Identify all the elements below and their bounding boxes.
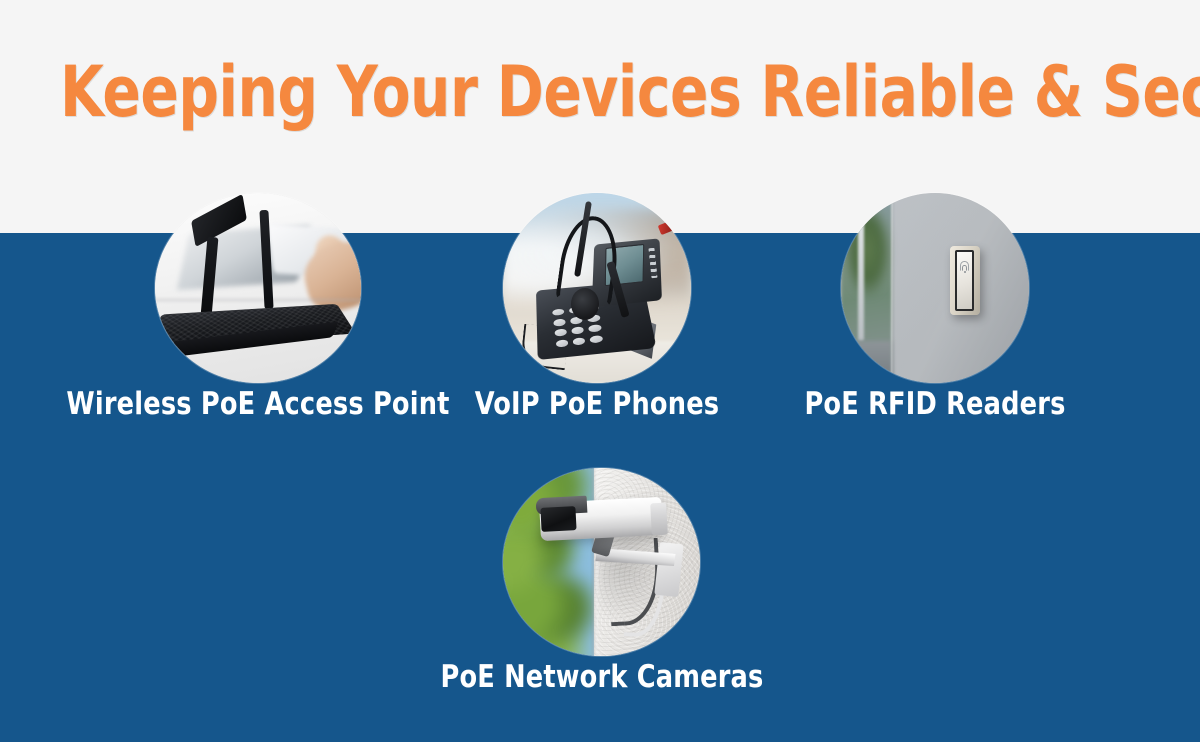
feature-label-poe-network-cameras: PoE Network Cameras: [440, 659, 763, 695]
rfid-reader-illustration: [841, 193, 1029, 383]
security-camera-icon: [503, 468, 700, 656]
desk-phone-icon: [503, 193, 691, 383]
voip-phone-illustration: [503, 193, 691, 383]
security-camera-illustration: [503, 468, 700, 656]
feature-label-wireless-poe-access-point: Wireless PoE Access Point: [66, 386, 449, 422]
feature-item-poe-network-cameras[interactable]: PoE Network Cameras: [503, 468, 700, 656]
rfid-reader-icon: [841, 193, 1029, 383]
poe-devices-banner: Keeping Your Devices Reliable & Secure W…: [0, 0, 1200, 742]
page-title: Keeping Your Devices Reliable & Secure: [60, 52, 1140, 132]
router-icon: [155, 193, 361, 383]
router-illustration: [155, 193, 361, 383]
feature-item-voip-poe-phones[interactable]: VoIP PoE Phones: [503, 193, 691, 383]
feature-item-poe-rfid-readers[interactable]: PoE RFID Readers: [841, 193, 1029, 383]
feature-label-poe-rfid-readers: PoE RFID Readers: [804, 386, 1065, 422]
feature-item-wireless-poe-access-point[interactable]: Wireless PoE Access Point: [155, 193, 361, 383]
feature-label-voip-poe-phones: VoIP PoE Phones: [475, 386, 720, 422]
